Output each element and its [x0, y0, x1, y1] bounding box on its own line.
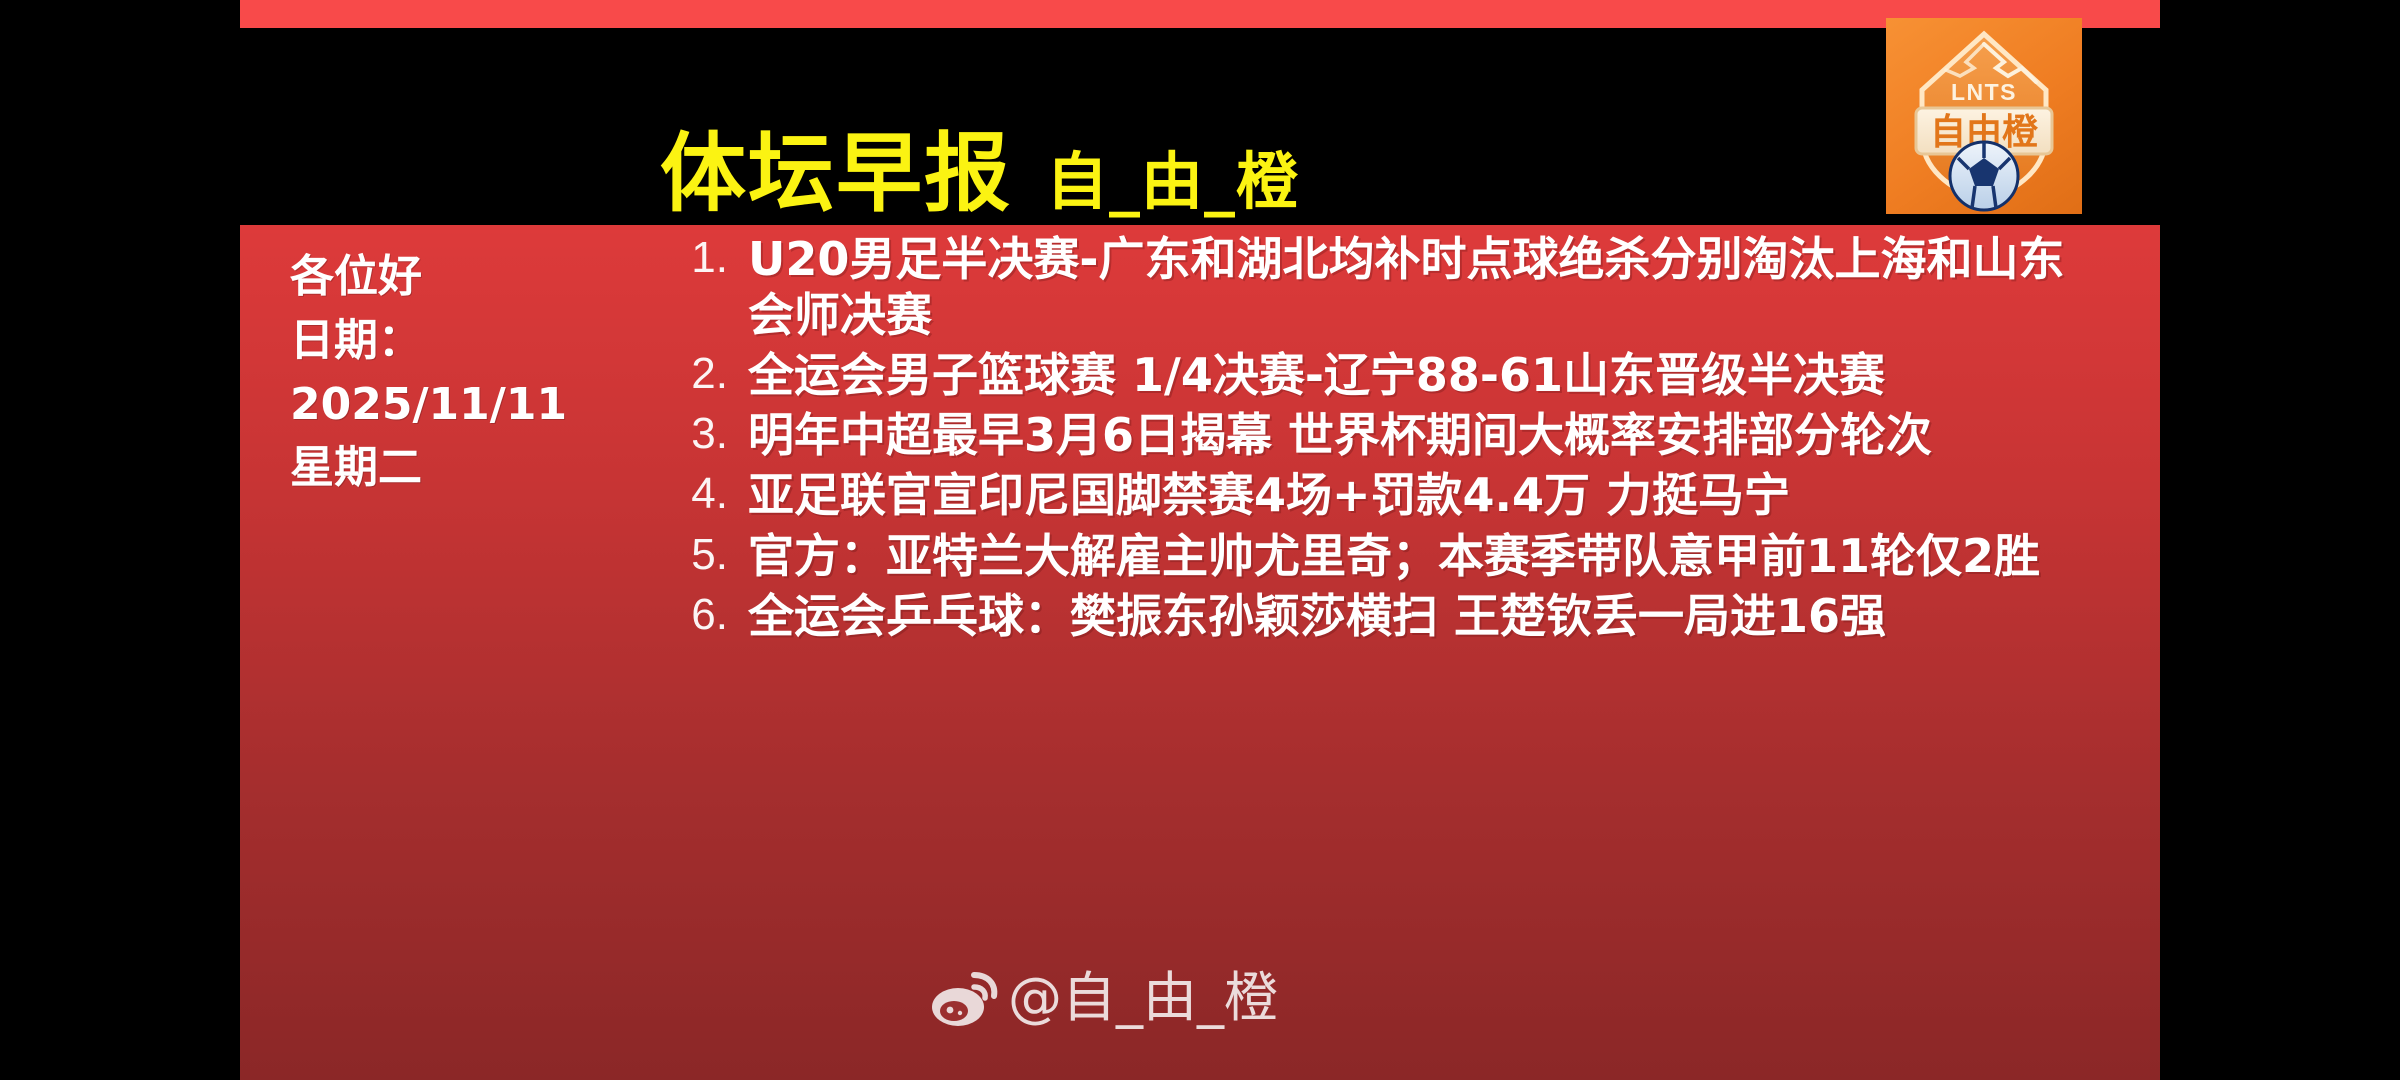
list-item-text: 官方：亚特兰大解雇主帅尤里奇；本赛季带队意甲前11轮仅2胜	[748, 528, 2070, 584]
header: 体坛早报 自_由_橙	[240, 28, 2160, 225]
screenshot-root: 体坛早报 自_由_橙	[0, 0, 2400, 1080]
brand-logo[interactable]: LNTS 自由橙	[1886, 18, 2082, 214]
list-item-number: 1.	[660, 231, 748, 285]
news-card: 体坛早报 自_由_橙	[240, 0, 2160, 1080]
letterbox-bar-right	[2160, 0, 2400, 1080]
date-value: 2025/11/11	[290, 373, 590, 437]
date-label: 日期：	[290, 309, 590, 373]
watermark-handle: @自_由_橙	[1008, 971, 1278, 1025]
list-item-number: 2.	[660, 347, 748, 401]
list-item[interactable]: 5. 官方：亚特兰大解雇主帅尤里奇；本赛季带队意甲前11轮仅2胜	[660, 528, 2070, 584]
list-item[interactable]: 4. 亚足联官宣印尼国脚禁赛4场+罚款4.4万 力挺马宁	[660, 467, 2070, 523]
list-item-number: 3.	[660, 407, 748, 461]
list-item-number: 4.	[660, 467, 748, 521]
watermark: @自_由_橙	[930, 967, 1278, 1029]
page-subtitle: 自_由_橙	[1046, 151, 1299, 217]
weibo-icon	[930, 967, 1000, 1029]
list-item-number: 6.	[660, 588, 748, 642]
list-item-text: 亚足联官宣印尼国脚禁赛4场+罚款4.4万 力挺马宁	[748, 467, 2070, 523]
list-item[interactable]: 3. 明年中超最早3月6日揭幕 世界杯期间大概率安排部分轮次	[660, 407, 2070, 463]
header-title-group: 体坛早报 自_由_橙	[660, 131, 1299, 217]
list-item-text: 全运会男子篮球赛 1/4决赛-辽宁88-61山东晋级半决赛	[748, 347, 2070, 403]
list-item[interactable]: 1. U20男足半决赛-广东和湖北均补时点球绝杀分别淘汰上海和山东 会师决赛	[660, 231, 2070, 343]
card-body: 各位好 日期： 2025/11/11 星期二 1. U20男足半决赛-广东和湖北…	[240, 225, 2160, 1080]
list-item[interactable]: 6. 全运会乒乓球：樊振东孙颖莎横扫 王楚钦丢一局进16强	[660, 588, 2070, 644]
list-item-text: U20男足半决赛-广东和湖北均补时点球绝杀分别淘汰上海和山东 会师决赛	[748, 231, 2070, 343]
list-item-text: 明年中超最早3月6日揭幕 世界杯期间大概率安排部分轮次	[748, 407, 2070, 463]
shield-icon: LNTS 自由橙	[1886, 18, 2082, 214]
info-column: 各位好 日期： 2025/11/11 星期二	[290, 245, 590, 500]
weekday-text: 星期二	[290, 436, 590, 500]
greeting-text: 各位好	[290, 245, 590, 309]
list-item-text: 全运会乒乓球：樊振东孙颖莎横扫 王楚钦丢一局进16强	[748, 588, 2070, 644]
news-list: 1. U20男足半决赛-广东和湖北均补时点球绝杀分别淘汰上海和山东 会师决赛 2…	[660, 231, 2070, 648]
letterbox-bar-left	[0, 0, 240, 1080]
page-title: 体坛早报	[660, 131, 1012, 217]
list-item[interactable]: 2. 全运会男子篮球赛 1/4决赛-辽宁88-61山东晋级半决赛	[660, 347, 2070, 403]
top-red-strip	[240, 0, 2160, 28]
svg-text:LNTS: LNTS	[1951, 79, 2017, 105]
list-item-number: 5.	[660, 528, 748, 582]
